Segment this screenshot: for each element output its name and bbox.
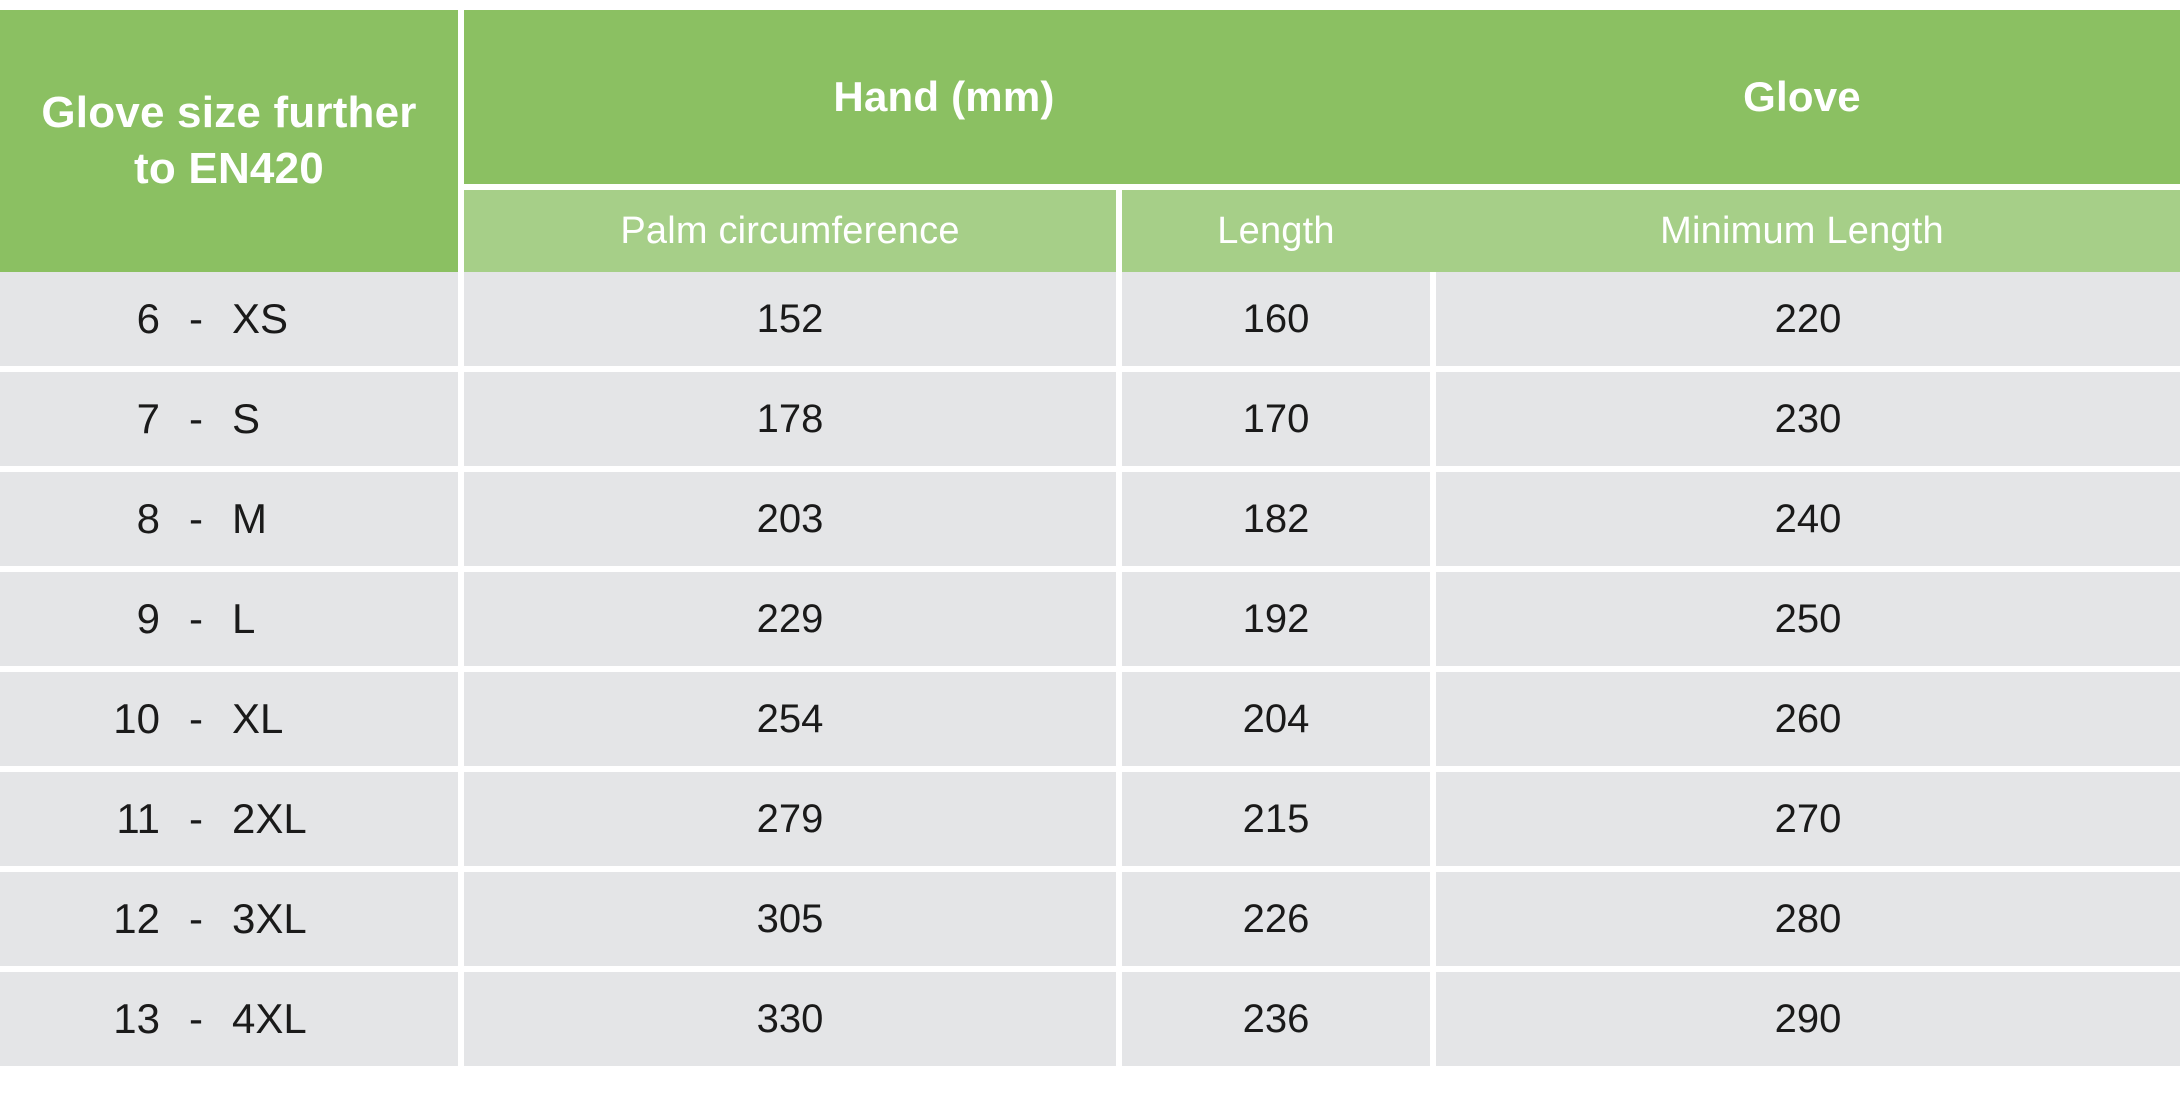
- cell-palm-circumference: 279: [464, 772, 1116, 866]
- size-label: XL: [232, 695, 384, 743]
- table-row: 7 - S 178 170 230: [0, 372, 2180, 466]
- table-row: 6 - XS 152 160 220: [0, 272, 2180, 366]
- cell-glove-size: 7 - S: [0, 372, 458, 466]
- size-dash-separator: -: [160, 895, 232, 943]
- cell-glove-size: 6 - XS: [0, 272, 458, 366]
- cell-length: 204: [1122, 672, 1430, 766]
- cell-glove-size: 13 - 4XL: [0, 972, 458, 1066]
- cell-length: 170: [1122, 372, 1430, 466]
- size-label: 2XL: [232, 795, 384, 843]
- table-row: 11 - 2XL 279 215 270: [0, 772, 2180, 866]
- size-label: L: [232, 595, 384, 643]
- size-label: S: [232, 395, 384, 443]
- table-row: 13 - 4XL 330 236 290: [0, 972, 2180, 1066]
- cell-length: 215: [1122, 772, 1430, 866]
- header-palm-circumference: Palm circumference: [464, 190, 1116, 272]
- cell-minimum-length: 290: [1436, 972, 2180, 1066]
- header-size-column: Glove size further to EN420: [0, 10, 458, 272]
- cell-minimum-length: 270: [1436, 772, 2180, 866]
- cell-palm-circumference: 330: [464, 972, 1116, 1066]
- header-length: Length: [1122, 190, 1430, 272]
- cell-minimum-length: 220: [1436, 272, 2180, 366]
- size-label: 3XL: [232, 895, 384, 943]
- size-number: 10: [74, 695, 160, 743]
- cell-minimum-length: 280: [1436, 872, 2180, 966]
- header-glove-label: Glove: [1424, 10, 2180, 184]
- size-number: 13: [74, 995, 160, 1043]
- cell-length: 160: [1122, 272, 1430, 366]
- size-dash-separator: -: [160, 395, 232, 443]
- cell-glove-size: 9 - L: [0, 572, 458, 666]
- size-label: 4XL: [232, 995, 384, 1043]
- size-number: 7: [74, 395, 160, 443]
- cell-length: 182: [1122, 472, 1430, 566]
- size-number: 8: [74, 495, 160, 543]
- cell-palm-circumference: 152: [464, 272, 1116, 366]
- table-row: 9 - L 229 192 250: [0, 572, 2180, 666]
- cell-minimum-length: 250: [1436, 572, 2180, 666]
- glove-size-table: Glove size further to EN420 Hand (mm) Pa…: [0, 0, 2180, 1097]
- size-number: 6: [74, 295, 160, 343]
- header-group-hand: Hand (mm) Palm circumference Length: [464, 10, 1424, 272]
- cell-glove-size: 12 - 3XL: [0, 872, 458, 966]
- cell-glove-size: 10 - XL: [0, 672, 458, 766]
- size-number: 12: [74, 895, 160, 943]
- table-body: 6 - XS 152 160 220 7 - S 178 170 230 8 -…: [0, 272, 2180, 1066]
- table-header: Glove size further to EN420 Hand (mm) Pa…: [0, 10, 2180, 272]
- cell-length: 226: [1122, 872, 1430, 966]
- header-group-glove: Glove Minimum Length: [1424, 10, 2180, 272]
- size-number: 9: [74, 595, 160, 643]
- cell-palm-circumference: 178: [464, 372, 1116, 466]
- size-dash-separator: -: [160, 295, 232, 343]
- cell-palm-circumference: 229: [464, 572, 1116, 666]
- table-row: 8 - M 203 182 240: [0, 472, 2180, 566]
- size-dash-separator: -: [160, 595, 232, 643]
- cell-minimum-length: 260: [1436, 672, 2180, 766]
- cell-glove-size: 8 - M: [0, 472, 458, 566]
- size-dash-separator: -: [160, 795, 232, 843]
- cell-length: 192: [1122, 572, 1430, 666]
- size-dash-separator: -: [160, 995, 232, 1043]
- size-label: XS: [232, 295, 384, 343]
- cell-glove-size: 11 - 2XL: [0, 772, 458, 866]
- cell-minimum-length: 230: [1436, 372, 2180, 466]
- header-hand-label: Hand (mm): [464, 10, 1424, 184]
- cell-palm-circumference: 254: [464, 672, 1116, 766]
- cell-minimum-length: 240: [1436, 472, 2180, 566]
- size-label: M: [232, 495, 384, 543]
- cell-palm-circumference: 305: [464, 872, 1116, 966]
- size-number: 11: [74, 795, 160, 843]
- size-dash-separator: -: [160, 695, 232, 743]
- table-row: 10 - XL 254 204 260: [0, 672, 2180, 766]
- cell-length: 236: [1122, 972, 1430, 1066]
- table-row: 12 - 3XL 305 226 280: [0, 872, 2180, 966]
- header-minimum-length: Minimum Length: [1424, 190, 2180, 272]
- cell-palm-circumference: 203: [464, 472, 1116, 566]
- size-dash-separator: -: [160, 495, 232, 543]
